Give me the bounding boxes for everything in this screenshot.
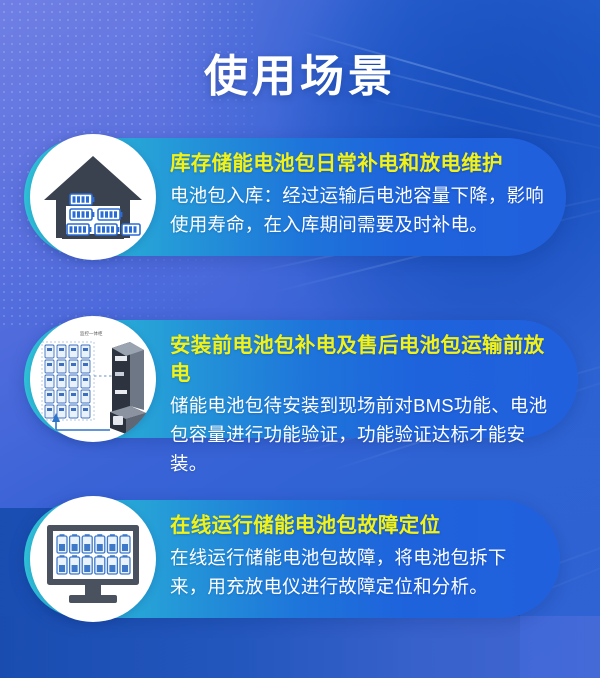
scenario-card-1-text: 库存储能电池包日常补电和放电维护 电池包入库：经过运输后电池容量下降，影响使用寿… bbox=[170, 150, 544, 239]
battery-rack-cabinet-icon: 监控一体柜 bbox=[30, 316, 156, 442]
monitor-battery-icon bbox=[30, 496, 156, 622]
scenario-card-3[interactable]: 在线运行储能电池包故障定位 在线运行储能电池包故障，将电池包拆下来，用充放电仪进… bbox=[24, 500, 560, 618]
scenario-card-3-title: 在线运行储能电池包故障定位 bbox=[170, 512, 538, 540]
background-bottom-band bbox=[0, 616, 600, 678]
scenario-card-2-text: 安装前电池包补电及售后电池包运输前放电 储能电池包待安装到现场前对BMS功能、电… bbox=[170, 332, 556, 478]
scenario-card-2[interactable]: 监控一体柜 bbox=[24, 320, 578, 438]
warehouse-battery-icon bbox=[30, 134, 156, 260]
scenario-card-3-text: 在线运行储能电池包故障定位 在线运行储能电池包故障，将电池包拆下来，用充放电仪进… bbox=[170, 512, 538, 601]
scenario-card-1-body: 电池包入库：经过运输后电池容量下降，影响使用寿命，在入库期间需要及时补电。 bbox=[170, 181, 544, 239]
scenario-card-1-title: 库存储能电池包日常补电和放电维护 bbox=[170, 150, 544, 178]
scenario-card-2-body: 储能电池包待安装到现场前对BMS功能、电池包容量进行功能验证，功能验证达标才能安… bbox=[170, 391, 556, 478]
scenario-card-2-title: 安装前电池包补电及售后电池包运输前放电 bbox=[170, 332, 556, 388]
icon-caption-label: 监控一体柜 bbox=[80, 330, 103, 337]
page-title: 使用场景 bbox=[0, 40, 600, 104]
scenario-card-3-body: 在线运行储能电池包故障，将电池包拆下来，用充放电仪进行故障定位和分析。 bbox=[170, 543, 538, 601]
scenario-card-1[interactable]: 库存储能电池包日常补电和放电维护 电池包入库：经过运输后电池容量下降，影响使用寿… bbox=[24, 138, 566, 256]
